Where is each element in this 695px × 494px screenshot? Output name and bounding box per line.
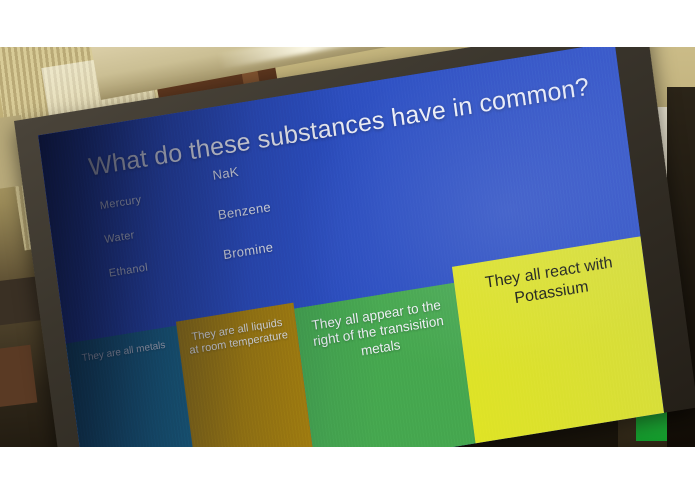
substances-column-1: Mercury Water Ethanol	[99, 194, 151, 281]
substance-item: Ethanol	[108, 261, 151, 280]
answer-option-c-label: They all appear to the right of the tran…	[303, 296, 454, 368]
letterbox-bar-top	[0, 0, 695, 47]
substance-item: Water	[104, 227, 147, 246]
answer-option-d-label: They all react with Potassium	[461, 249, 639, 317]
wall-mounted-display: What do these substances have in common?…	[14, 47, 695, 447]
answer-option-b-label: They are all liquids at room temperature	[186, 316, 290, 359]
letterbox-bar-bottom	[0, 447, 695, 494]
substance-item: Benzene	[217, 199, 272, 222]
substance-item: Bromine	[222, 239, 277, 262]
substances-column-2: NaK Benzene Bromine	[212, 159, 277, 262]
substance-item: NaK	[212, 159, 267, 182]
answer-option-a-label: They are all metals	[81, 340, 166, 366]
substance-item: Mercury	[99, 194, 142, 213]
photograph: What do these substances have in common?…	[0, 47, 695, 447]
answer-option-d[interactable]: They all react with Potassium	[452, 236, 665, 447]
answer-option-c[interactable]: They all appear to the right of the tran…	[294, 283, 476, 447]
